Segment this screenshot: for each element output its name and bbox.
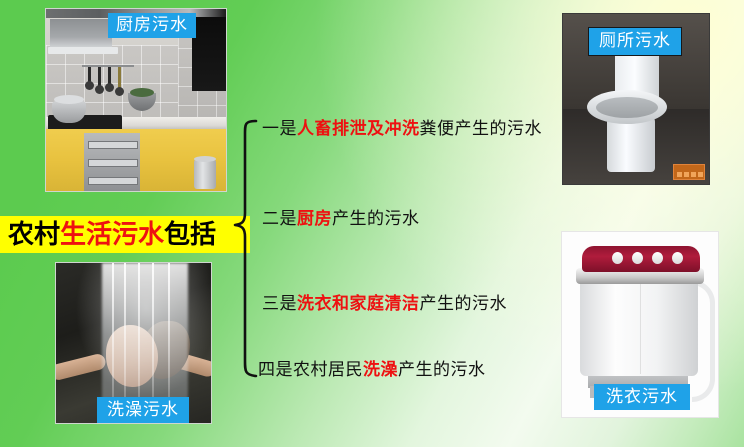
kitchen-trash-bin bbox=[194, 159, 216, 189]
kitchen-utensil-icon bbox=[88, 67, 91, 85]
kitchen-window bbox=[192, 17, 226, 91]
kitchen-utensil-icon bbox=[118, 67, 121, 91]
oven-handle bbox=[88, 159, 138, 167]
list-item-1: 一是人畜排泄及冲洗粪便产生的污水 bbox=[262, 121, 542, 138]
washer-body bbox=[580, 280, 698, 376]
washer-control-panel bbox=[582, 246, 700, 272]
text-run: 洗澡 bbox=[363, 360, 398, 380]
caption-toilet-wastewater: 厕所污水 bbox=[588, 27, 682, 56]
main-title-banner: 农村生活污水包括 bbox=[0, 216, 250, 253]
text-run: 一是 bbox=[262, 119, 297, 139]
text-run: 厨房 bbox=[297, 209, 332, 229]
washer-knob bbox=[632, 252, 643, 264]
washer-tub-divider bbox=[640, 282, 641, 374]
kitchen-wok-pot bbox=[52, 101, 86, 123]
watermark-logo-icon bbox=[673, 164, 705, 180]
kitchen-range-hood bbox=[50, 19, 112, 49]
caption-kitchen-wastewater: 厨房污水 bbox=[108, 13, 196, 38]
oven-handle bbox=[88, 141, 138, 149]
kitchen-oven-drawers bbox=[84, 133, 140, 191]
toilet-seat bbox=[587, 90, 667, 124]
text-run: 粪便产生的污水 bbox=[420, 119, 543, 139]
curly-brace-connector bbox=[232, 118, 258, 380]
text-run: 三是 bbox=[262, 294, 297, 314]
watermark-dot bbox=[677, 172, 682, 177]
page-title: 农村生活污水包括 bbox=[0, 222, 216, 248]
text-run: 人畜排泄及冲洗 bbox=[297, 119, 420, 139]
washer-knob bbox=[652, 252, 663, 264]
watermark-dot bbox=[698, 172, 703, 177]
watermark-dot bbox=[684, 172, 689, 177]
text-run: 农村 bbox=[8, 220, 60, 250]
text-run: 生活污水 bbox=[60, 220, 164, 250]
text-run: 产生的污水 bbox=[398, 360, 486, 380]
washer-knob bbox=[672, 252, 683, 264]
caption-laundry-wastewater: 洗衣污水 bbox=[594, 384, 690, 410]
list-item-2: 二是厨房产生的污水 bbox=[262, 211, 420, 228]
kitchen-utensil-icon bbox=[98, 67, 101, 89]
text-run: 洗衣和家庭清洁 bbox=[297, 294, 420, 314]
oven-handle bbox=[88, 177, 138, 185]
text-run: 二是 bbox=[262, 209, 297, 229]
text-run: 包括 bbox=[164, 220, 216, 250]
caption-shower-wastewater: 洗澡污水 bbox=[97, 397, 189, 423]
text-run: 产生的污水 bbox=[420, 294, 508, 314]
list-item-3: 三是洗衣和家庭清洁产生的污水 bbox=[262, 296, 507, 313]
kitchen-utensil-icon bbox=[108, 67, 111, 87]
text-run: 四是农村居民 bbox=[258, 360, 363, 380]
text-run: 产生的污水 bbox=[332, 209, 420, 229]
list-item-4: 四是农村居民洗澡产生的污水 bbox=[258, 362, 486, 379]
slide-canvas: 厨房污水 厕所污水 bbox=[0, 0, 744, 447]
washer-knob bbox=[612, 252, 623, 264]
watermark-dot bbox=[691, 172, 696, 177]
